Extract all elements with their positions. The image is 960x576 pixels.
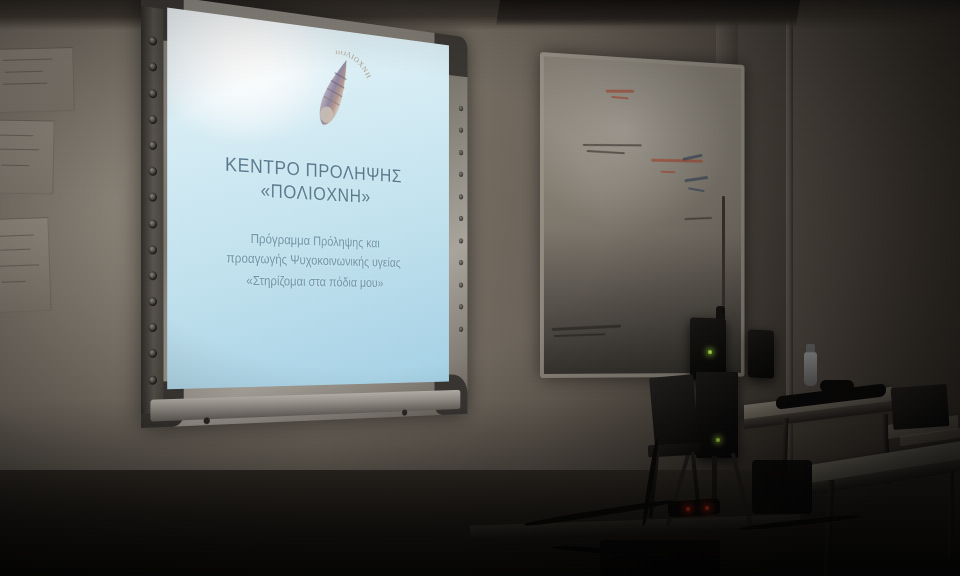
student-desk-right-leg-r	[948, 470, 954, 556]
projected-slide: ΠΟΛΙΟΧΝΗ	[167, 8, 449, 390]
handwriting-red-top	[606, 90, 635, 93]
smartboard-button[interactable]	[148, 219, 156, 228]
smartboard-button[interactable]	[459, 194, 463, 199]
smartboard-button[interactable]	[148, 297, 156, 306]
amplifier-power-led	[716, 438, 720, 442]
water-bottle-cap	[806, 344, 815, 353]
ceiling-beam	[496, 0, 800, 26]
amplifier-unit	[696, 372, 738, 458]
interactive-whiteboard[interactable]: ΠΟΛΙΟΧΝΗ	[141, 0, 467, 428]
smartboard-button[interactable]	[459, 326, 463, 331]
smartboard-button[interactable]	[459, 105, 463, 111]
power-strip-led-2	[705, 506, 709, 510]
smartboard-button[interactable]	[459, 149, 463, 155]
chair-right-back	[891, 384, 950, 430]
smartboard-button[interactable]	[148, 88, 156, 98]
item-on-desk-small	[820, 380, 854, 392]
wall-paper-middle	[0, 119, 55, 194]
smartboard-button[interactable]	[459, 282, 463, 287]
handwriting-dark-3	[684, 217, 712, 220]
handwriting-dark-1	[583, 144, 642, 146]
handwriting-red-top2	[611, 96, 628, 100]
smartboard-button[interactable]	[148, 167, 156, 177]
wall-paper-bottom	[0, 217, 52, 313]
slide-subtitle: Πρόγραμμα Πρόληψης και προαγωγής Ψυχοκοι…	[226, 227, 400, 292]
smartboard-button[interactable]	[459, 238, 463, 243]
smartboard-button[interactable]	[459, 260, 463, 265]
slide-content: ΠΟΛΙΟΧΝΗ	[167, 8, 449, 390]
smartboard-button[interactable]	[148, 140, 156, 150]
wall-paper-top	[0, 47, 75, 113]
smartboard-button[interactable]	[459, 216, 463, 221]
slide-title: ΚΕΝΤΡΟ ΠΡΟΛΗΨΗΣ «ΠΟΛΙΟΧΝΗ»	[225, 152, 402, 211]
classroom-photo: ΠΟΛΙΟΧΝΗ	[0, 0, 960, 576]
smartboard-button[interactable]	[148, 271, 156, 280]
wall-cable	[722, 196, 725, 314]
handwriting-red-mid	[651, 159, 703, 163]
speaker-power-led	[708, 350, 712, 354]
smartboard-button[interactable]	[148, 62, 156, 72]
smartboard-button[interactable]	[148, 36, 156, 46]
smartboard-button[interactable]	[148, 245, 156, 254]
smartboard-button[interactable]	[148, 323, 156, 332]
smartboard-button[interactable]	[459, 127, 463, 133]
smartboard-button[interactable]	[148, 349, 156, 358]
floor-clutter	[600, 540, 720, 576]
handwriting-dark-2	[587, 150, 625, 154]
smartboard-button[interactable]	[148, 193, 156, 202]
smartboard-right-button-strip[interactable]	[455, 88, 468, 348]
smartboard-button[interactable]	[459, 172, 463, 178]
secondary-speaker	[748, 329, 774, 378]
water-bottle	[804, 352, 817, 386]
handwriting-blue-3	[688, 187, 705, 192]
folding-chair-back	[649, 374, 699, 448]
smartboard-left-button-strip[interactable]	[141, 6, 163, 414]
handwriting-red-mid2	[660, 171, 675, 174]
slide-subtitle-line3: «Στηρίζομαι στα πόδια μου»	[226, 270, 400, 293]
handwriting-blue-2	[684, 176, 708, 182]
smartboard-button[interactable]	[148, 375, 156, 384]
smartboard-button[interactable]	[459, 304, 463, 309]
seashell-logo-icon: ΠΟΛΙΟΧΝΗ	[303, 46, 376, 143]
equipment-case	[752, 460, 812, 514]
smartboard-button[interactable]	[148, 114, 156, 124]
power-strip-led-1	[686, 507, 690, 511]
